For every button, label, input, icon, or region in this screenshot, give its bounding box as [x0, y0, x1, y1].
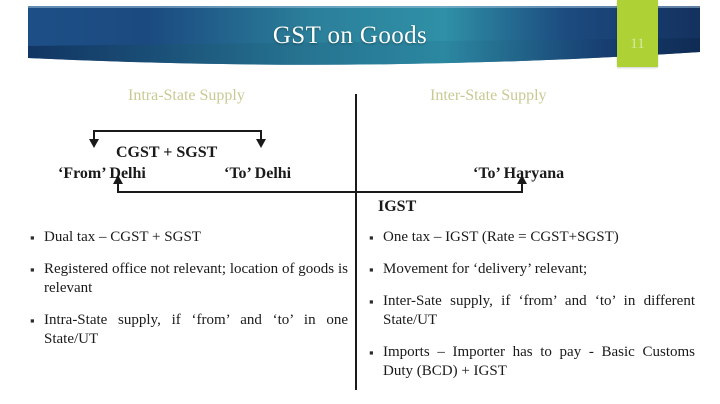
arrow-up-from-delhi-stem [117, 183, 119, 193]
list-item-text: Registered office not relevant; location… [44, 260, 348, 298]
page-number-badge: 11 [617, 0, 658, 67]
label-from-delhi: ‘From’ Delhi [58, 165, 146, 183]
intra-state-top-bracket-line [93, 130, 262, 132]
column-heading-inter-state: Inter-State Supply [430, 87, 547, 105]
label-igst: IGST [378, 198, 416, 216]
arrow-down-from-head-icon [89, 139, 99, 148]
intra-state-bullet-list: ▪ Dual tax – CGST + SGST ▪ Registered of… [30, 228, 348, 362]
bullet-marker-icon: ▪ [30, 228, 44, 247]
label-to-haryana: ‘To’ Haryana [473, 165, 564, 183]
bullet-marker-icon: ▪ [30, 260, 44, 279]
list-item-text: Movement for ‘delivery’ relevant; [383, 260, 695, 279]
label-cgst-sgst: CGST + SGST [116, 144, 217, 162]
slide-header: GST on Goods 11 [0, 0, 720, 72]
inter-state-bullet-list: ▪ One tax – IGST (Rate = CGST+SGST) ▪ Mo… [369, 228, 695, 394]
list-item: ▪ One tax – IGST (Rate = CGST+SGST) [369, 228, 695, 247]
vertical-divider [355, 94, 357, 390]
list-item: ▪ Intra-State supply, if ‘from’ and ‘to’… [30, 311, 348, 349]
list-item: ▪ Imports – Importer has to pay - Basic … [369, 343, 695, 381]
list-item-text: One tax – IGST (Rate = CGST+SGST) [383, 228, 695, 247]
list-item-text: Dual tax – CGST + SGST [44, 228, 348, 247]
label-to-delhi: ‘To’ Delhi [224, 165, 291, 183]
supply-flow-line [117, 191, 523, 193]
bullet-marker-icon: ▪ [369, 228, 383, 247]
list-item: ▪ Dual tax – CGST + SGST [30, 228, 348, 247]
list-item-text: Inter-Sate supply, if ‘from’ and ‘to’ in… [383, 292, 695, 330]
column-heading-intra-state: Intra-State Supply [128, 87, 245, 105]
page-title: GST on Goods [0, 22, 700, 50]
list-item: ▪ Movement for ‘delivery’ relevant; [369, 260, 695, 279]
list-item: ▪ Registered office not relevant; locati… [30, 260, 348, 298]
list-item-text: Imports – Importer has to pay - Basic Cu… [383, 343, 695, 381]
page-number: 11 [617, 36, 658, 53]
arrow-up-haryana-stem [521, 183, 523, 193]
bullet-marker-icon: ▪ [30, 311, 44, 330]
list-item: ▪ Inter-Sate supply, if ‘from’ and ‘to’ … [369, 292, 695, 330]
bullet-marker-icon: ▪ [369, 260, 383, 279]
bullet-marker-icon: ▪ [369, 292, 383, 311]
arrow-down-to-head-icon [256, 139, 266, 148]
list-item-text: Intra-State supply, if ‘from’ and ‘to’ i… [44, 311, 348, 349]
bullet-marker-icon: ▪ [369, 343, 383, 362]
